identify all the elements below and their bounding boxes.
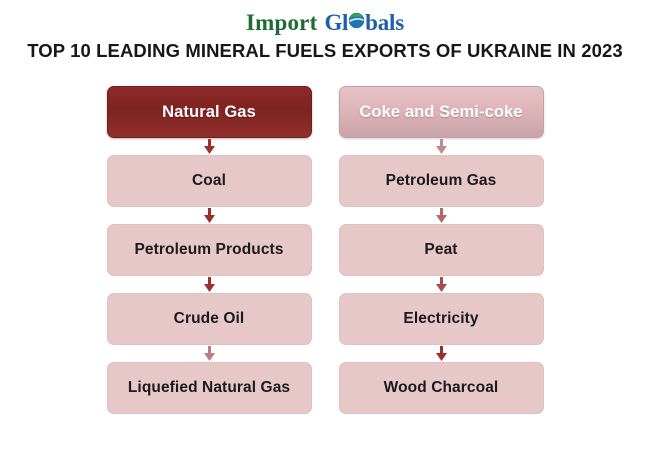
flow-node-peat[interactable]: Peat — [339, 224, 544, 276]
logo-word-globals: Gl bals — [324, 11, 404, 34]
flow-node-coke-and-semi-coke[interactable]: Coke and Semi-coke — [339, 86, 544, 138]
arrow-down-icon — [434, 276, 448, 293]
arrow-down-icon — [434, 138, 448, 155]
flow-node-petroleum-gas[interactable]: Petroleum Gas — [339, 155, 544, 207]
flow-node-wood-charcoal[interactable]: Wood Charcoal — [339, 362, 544, 414]
arrow-down-icon — [202, 345, 216, 362]
arrow-down-icon — [434, 207, 448, 224]
arrow-down-icon — [434, 345, 448, 362]
logo-globals-suffix: bals — [365, 11, 404, 34]
page-title: TOP 10 LEADING MINERAL FUELS EXPORTS OF … — [0, 40, 650, 62]
logo-word-import: Import — [246, 11, 317, 34]
flow-node-electricity[interactable]: Electricity — [339, 293, 544, 345]
brand-logo: Import Gl bals — [0, 0, 650, 36]
arrow-down-icon — [202, 207, 216, 224]
flow-node-crude-oil[interactable]: Crude Oil — [107, 293, 312, 345]
flow-node-petroleum-products[interactable]: Petroleum Products — [107, 224, 312, 276]
globe-icon — [348, 12, 365, 29]
logo-text: Import Gl bals — [246, 11, 404, 34]
flow-node-coal[interactable]: Coal — [107, 155, 312, 207]
left-column: Natural Gas Coal Petroleum Products Crud… — [107, 86, 312, 414]
flow-node-natural-gas[interactable]: Natural Gas — [107, 86, 312, 138]
arrow-down-icon — [202, 276, 216, 293]
flowchart: Natural Gas Coal Petroleum Products Crud… — [0, 86, 650, 414]
logo-globals-prefix: Gl — [324, 11, 348, 34]
arrow-down-icon — [202, 138, 216, 155]
right-column: Coke and Semi-coke Petroleum Gas Peat El… — [339, 86, 544, 414]
flow-node-liquefied-natural-gas[interactable]: Liquefied Natural Gas — [107, 362, 312, 414]
